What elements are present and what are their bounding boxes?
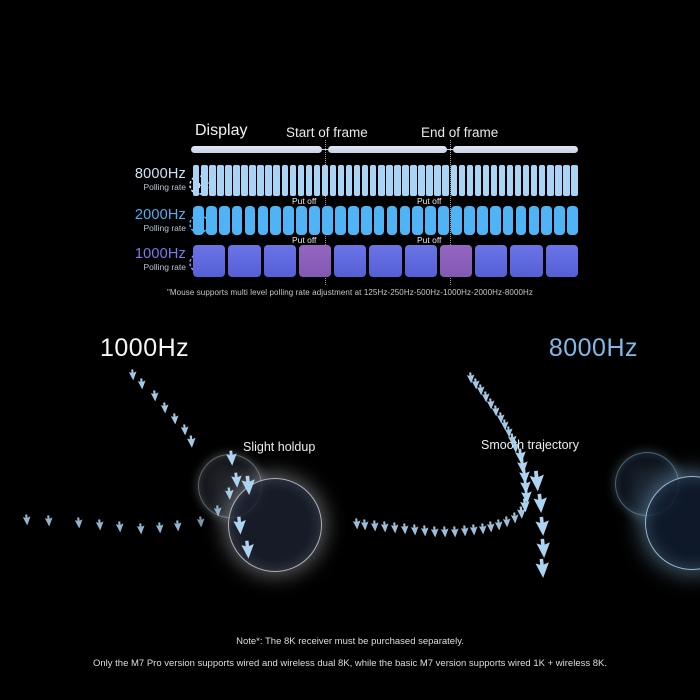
display-bar-segment bbox=[453, 146, 578, 153]
polling-bar bbox=[265, 165, 271, 196]
panel-caption: Smooth trajectory bbox=[481, 438, 579, 452]
put-off-label: Put off bbox=[417, 196, 441, 206]
polling-rate-note: "Mouse supports multi level polling rate… bbox=[0, 288, 700, 297]
mouse-cursor-icon bbox=[448, 525, 459, 538]
polling-bar bbox=[193, 206, 204, 235]
polling-bar bbox=[563, 165, 569, 196]
display-bar-segment bbox=[328, 146, 447, 153]
polling-bar bbox=[309, 206, 320, 235]
panel-1000hz: 1000Hz Slight holdup bbox=[0, 320, 350, 620]
polling-bar bbox=[249, 165, 255, 196]
polling-bar bbox=[330, 165, 336, 196]
polling-bar bbox=[571, 165, 577, 196]
polling-bar bbox=[503, 206, 514, 235]
polling-bar bbox=[523, 165, 529, 196]
polling-bar bbox=[490, 206, 501, 235]
polling-bar bbox=[555, 165, 561, 196]
mouse-cursor-icon bbox=[529, 491, 549, 514]
mouse-cursor-icon bbox=[148, 389, 159, 402]
footnote-version: Only the M7 Pro version supports wired a… bbox=[0, 658, 700, 669]
polling-bar bbox=[402, 165, 408, 196]
polling-bar bbox=[451, 165, 457, 196]
polling-bar bbox=[209, 165, 215, 196]
row-sub-label: Polling rate bbox=[112, 262, 186, 273]
polling-bar bbox=[510, 245, 542, 277]
polling-bar bbox=[459, 165, 465, 196]
display-label: Display bbox=[195, 122, 247, 140]
polling-bar bbox=[440, 245, 472, 277]
start-of-frame-label: Start of frame bbox=[286, 125, 368, 140]
mouse-cursor-icon bbox=[153, 521, 164, 534]
polling-bar bbox=[491, 165, 497, 196]
polling-bar bbox=[217, 165, 223, 196]
mouse-cursor-icon bbox=[184, 434, 197, 448]
polling-bar bbox=[322, 165, 328, 196]
polling-bar bbox=[547, 165, 553, 196]
mouse-cursor-icon bbox=[168, 412, 179, 425]
put-off-label: Put off bbox=[292, 235, 316, 245]
polling-bar bbox=[241, 165, 247, 196]
polling-bar bbox=[228, 245, 260, 277]
polling-bar bbox=[264, 245, 296, 277]
mouse-cursor-icon bbox=[135, 377, 146, 390]
polling-bar bbox=[314, 165, 320, 196]
polling-bar bbox=[442, 165, 448, 196]
polling-bar bbox=[541, 206, 552, 235]
polling-bar bbox=[378, 165, 384, 196]
mouse-cursor-icon bbox=[458, 524, 469, 537]
polling-bar bbox=[296, 206, 307, 235]
polling-bar bbox=[546, 245, 578, 277]
polling-bar bbox=[298, 165, 304, 196]
polling-bar bbox=[257, 165, 263, 196]
footnotes: Note*: The 8K receiver must be purchased… bbox=[0, 636, 700, 669]
polling-bar bbox=[515, 165, 521, 196]
polling-bar bbox=[270, 206, 281, 235]
polling-bar bbox=[410, 165, 416, 196]
polling-bar bbox=[225, 165, 231, 196]
polling-bar bbox=[418, 165, 424, 196]
mouse-cursor-icon bbox=[42, 514, 53, 527]
mouse-cursor-icon bbox=[194, 515, 205, 528]
end-of-frame-label: End of frame bbox=[421, 125, 498, 140]
mouse-cursor-icon bbox=[72, 516, 83, 529]
polling-bar-row-1000hz bbox=[193, 245, 578, 277]
put-off-label: Put off bbox=[417, 235, 441, 245]
row-hz-value: 1000Hz bbox=[112, 247, 186, 262]
polling-bar bbox=[451, 206, 462, 235]
polling-bar-row-8000hz bbox=[193, 165, 578, 196]
polling-bar bbox=[387, 206, 398, 235]
put-off-label: Put off bbox=[292, 196, 316, 206]
polling-bar bbox=[425, 206, 436, 235]
polling-bar bbox=[567, 206, 578, 235]
polling-bar bbox=[206, 206, 217, 235]
polling-bar bbox=[554, 206, 565, 235]
polling-bar bbox=[354, 165, 360, 196]
polling-bar bbox=[232, 206, 243, 235]
row-sub-label: Polling rate bbox=[112, 223, 186, 234]
mouse-cursor-icon bbox=[531, 556, 551, 579]
polling-bar bbox=[475, 245, 507, 277]
polling-bar bbox=[394, 165, 400, 196]
polling-rate-diagram: Display Start of frame End of frame 8000… bbox=[0, 0, 700, 310]
polling-bar bbox=[338, 165, 344, 196]
mouse-cursor-icon bbox=[531, 514, 551, 537]
polling-bar bbox=[464, 206, 475, 235]
polling-bar bbox=[412, 206, 423, 235]
panel-8000hz: 8000Hz Smooth trajectory bbox=[350, 320, 700, 620]
mouse-cursor-icon bbox=[171, 519, 182, 532]
polling-bar bbox=[273, 165, 279, 196]
footnote-receiver: Note*: The 8K receiver must be purchased… bbox=[0, 636, 700, 647]
row-hz-value: 8000Hz bbox=[112, 167, 186, 182]
row-label-2000hz: 2000Hz Polling rate bbox=[112, 208, 186, 234]
polling-bar bbox=[539, 165, 545, 196]
polling-bar bbox=[245, 206, 256, 235]
polling-bar bbox=[233, 165, 239, 196]
mouse-cursor-icon bbox=[467, 523, 478, 536]
polling-bar bbox=[361, 206, 372, 235]
polling-bar bbox=[507, 165, 513, 196]
row-label-8000hz: 8000Hz Polling rate bbox=[112, 167, 186, 193]
polling-bar bbox=[438, 206, 449, 235]
mouse-cursor-icon bbox=[134, 522, 145, 535]
mouse-cursor-icon bbox=[20, 513, 31, 526]
polling-bar bbox=[369, 245, 401, 277]
mouse-cursor-icon bbox=[428, 525, 439, 538]
polling-bar-row-2000hz bbox=[193, 206, 578, 235]
polling-bar bbox=[346, 165, 352, 196]
row-label-1000hz: 1000Hz Polling rate bbox=[112, 247, 186, 273]
mouse-cursor-icon bbox=[532, 536, 552, 559]
polling-bar bbox=[499, 165, 505, 196]
mouse-cursor-icon bbox=[158, 401, 169, 414]
polling-bar bbox=[348, 206, 359, 235]
row-hz-value: 2000Hz bbox=[112, 208, 186, 223]
polling-bar bbox=[467, 165, 473, 196]
polling-bar bbox=[282, 165, 288, 196]
mouse-cursor-icon bbox=[476, 522, 487, 535]
mouse-cursor-icon bbox=[126, 368, 137, 381]
polling-bar bbox=[516, 206, 527, 235]
polling-bar bbox=[193, 245, 225, 277]
polling-bar bbox=[400, 206, 411, 235]
polling-bar bbox=[306, 165, 312, 196]
polling-bar bbox=[483, 165, 489, 196]
panel-caption: Slight holdup bbox=[243, 440, 315, 454]
polling-bar bbox=[322, 206, 333, 235]
polling-bar bbox=[258, 206, 269, 235]
display-bar-segment bbox=[191, 146, 322, 153]
panel-title: 8000Hz bbox=[549, 334, 638, 363]
polling-bar bbox=[201, 165, 207, 196]
polling-bar bbox=[193, 165, 199, 196]
polling-bar bbox=[374, 206, 385, 235]
polling-bar bbox=[283, 206, 294, 235]
polling-bar bbox=[299, 245, 331, 277]
row-sub-label: Polling rate bbox=[112, 182, 186, 193]
polling-bar bbox=[475, 165, 481, 196]
polling-bar bbox=[219, 206, 230, 235]
mouse-cursor-icon bbox=[113, 520, 124, 533]
polling-bar bbox=[531, 165, 537, 196]
polling-bar bbox=[426, 165, 432, 196]
polling-bar bbox=[370, 165, 376, 196]
polling-bar bbox=[405, 245, 437, 277]
polling-bar bbox=[477, 206, 488, 235]
polling-bar bbox=[362, 165, 368, 196]
mouse-cursor-icon bbox=[93, 518, 104, 531]
mouse-cursor-icon bbox=[438, 525, 449, 538]
panel-title: 1000Hz bbox=[100, 334, 189, 363]
polling-bar bbox=[434, 165, 440, 196]
polling-bar bbox=[386, 165, 392, 196]
polling-bar bbox=[529, 206, 540, 235]
polling-bar bbox=[335, 206, 346, 235]
polling-bar bbox=[334, 245, 366, 277]
polling-bar bbox=[290, 165, 296, 196]
